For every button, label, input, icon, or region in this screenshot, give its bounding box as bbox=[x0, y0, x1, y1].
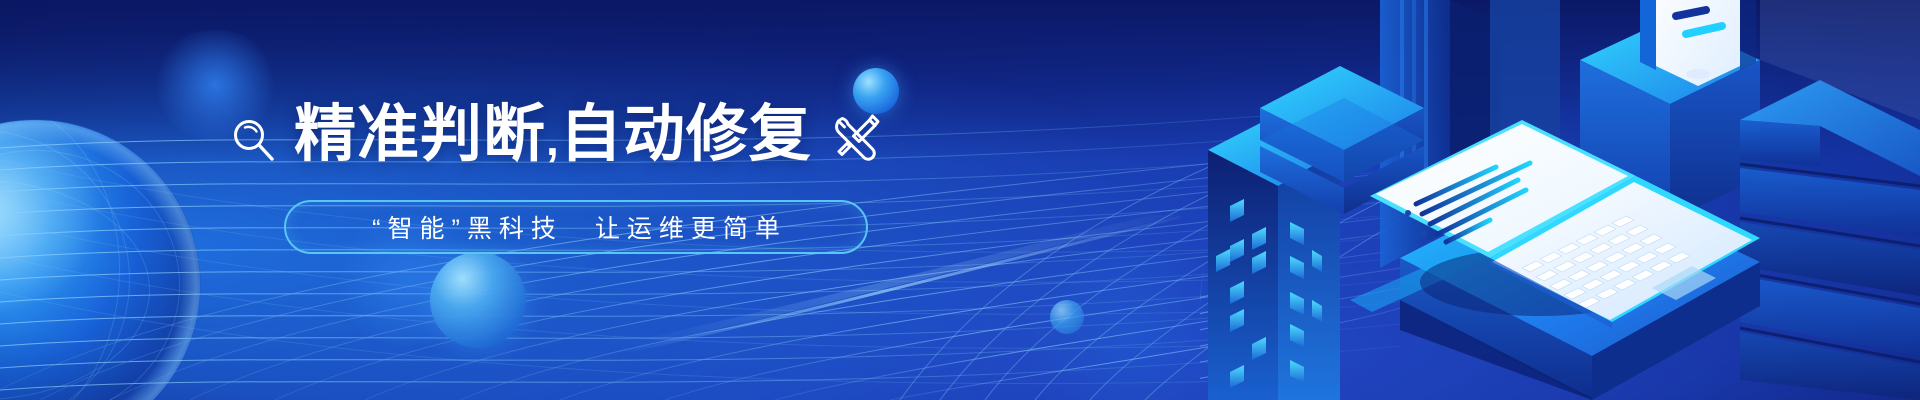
subtitle-text: “智能”黑科技 让运维更简单 bbox=[365, 209, 787, 245]
banner-content: 精准判断,自动修复 “智能”黑科技 让运维更简单 bbox=[228, 92, 988, 254]
headline-text: 精准判断,自动修复 bbox=[294, 104, 812, 166]
subtitle-pill: “智能”黑科技 让运维更简单 bbox=[284, 200, 868, 254]
promo-banner: 精准判断,自动修复 “智能”黑科技 让运维更简单 bbox=[0, 0, 1920, 400]
headline-row: 精准判断,自动修复 bbox=[228, 92, 988, 178]
headline-part2: 自动修复 bbox=[560, 100, 812, 169]
magnifier-icon bbox=[228, 115, 278, 165]
headline-separator: , bbox=[546, 113, 560, 165]
wrench-screwdriver-icon bbox=[828, 110, 884, 166]
isometric-illustration bbox=[1200, 0, 1920, 400]
headline-part1: 精准判断 bbox=[294, 100, 546, 169]
server-stack-right bbox=[1740, 80, 1920, 400]
